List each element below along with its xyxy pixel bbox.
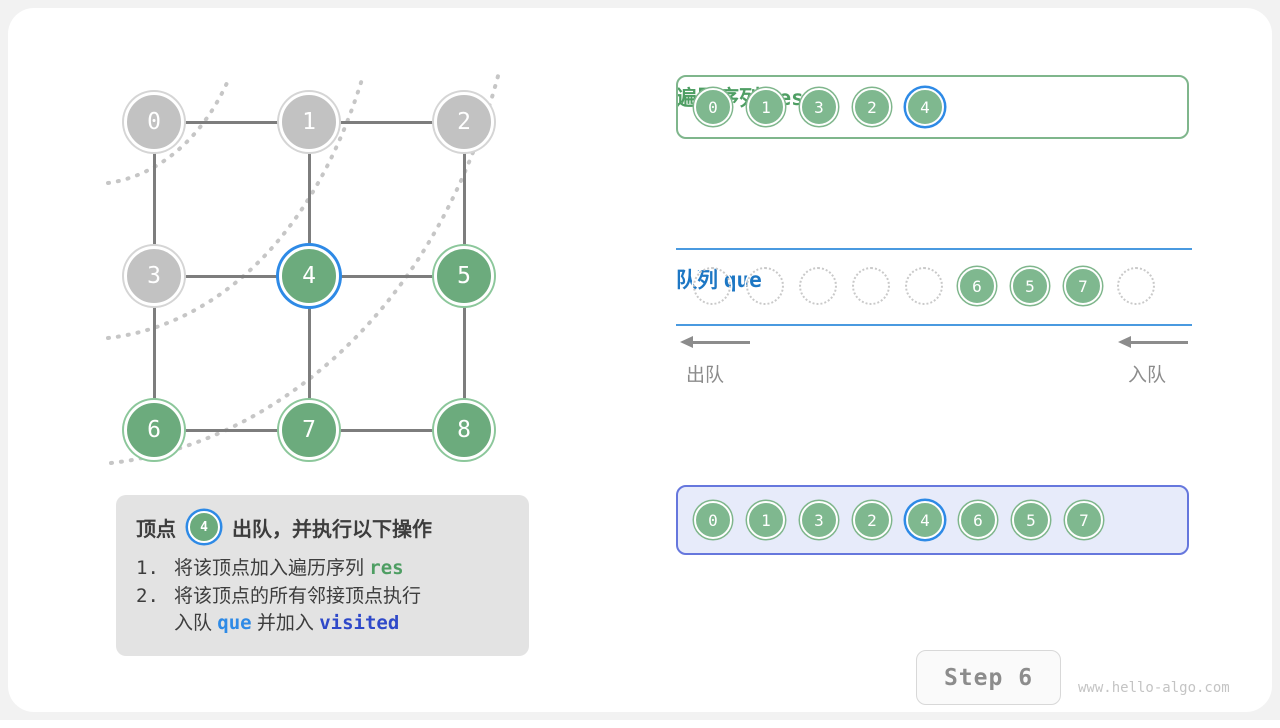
queue-slot-5[interactable]: 6 bbox=[958, 267, 996, 305]
visited-item-label: 5 bbox=[1026, 511, 1036, 530]
queue-top-rail bbox=[676, 248, 1192, 250]
queue-slot-7[interactable]: 7 bbox=[1064, 267, 1102, 305]
caption-step-1-text: 将该顶点加入遍历序列 bbox=[174, 558, 364, 579]
graph-node-label: 7 bbox=[302, 419, 316, 442]
caption-step-1: 1. 将该顶点加入遍历序列 res bbox=[136, 555, 509, 583]
enqueue-label: 入队 bbox=[1128, 360, 1166, 387]
graph-node-6[interactable]: 6 bbox=[124, 400, 184, 460]
caption-step-2-text-enqueue: 入队 bbox=[174, 613, 212, 634]
res-container: 01324 bbox=[676, 75, 1189, 139]
graph-node-label: 8 bbox=[457, 419, 471, 442]
caption-step-list: 1. 将该顶点加入遍历序列 res 2. 将该顶点的所有邻接顶点执行 入队 qu… bbox=[136, 555, 509, 638]
watermark: www.hello-algo.com bbox=[1078, 680, 1230, 696]
caption-step-1-code-res: res bbox=[369, 557, 403, 579]
caption-prefix: 顶点 bbox=[136, 513, 176, 542]
visited-item-label: 1 bbox=[761, 511, 771, 530]
graph-diagram: 012345678 bbox=[8, 8, 628, 488]
caption-step-2-code-que: que bbox=[217, 612, 251, 634]
visited-container: 01324657 bbox=[676, 485, 1189, 555]
caption-step-2-index: 2. bbox=[136, 583, 174, 638]
res-item-1[interactable]: 1 bbox=[747, 88, 785, 126]
res-item-3[interactable]: 2 bbox=[853, 88, 891, 126]
graph-node-2[interactable]: 2 bbox=[434, 92, 494, 152]
visited-item-label: 4 bbox=[920, 511, 930, 530]
res-item-4[interactable]: 4 bbox=[906, 88, 944, 126]
queue-slot-8[interactable] bbox=[1117, 267, 1155, 305]
visited-item-1[interactable]: 1 bbox=[747, 501, 785, 539]
queue-slot-6[interactable]: 5 bbox=[1011, 267, 1049, 305]
caption-node-chip: 4 bbox=[188, 511, 220, 543]
graph-node-label: 0 bbox=[147, 111, 161, 134]
visited-item-label: 3 bbox=[814, 511, 824, 530]
dequeue-label: 出队 bbox=[686, 360, 724, 387]
queue-slot-1[interactable] bbox=[746, 267, 784, 305]
visited-item-6[interactable]: 5 bbox=[1012, 501, 1050, 539]
res-item-2[interactable]: 3 bbox=[800, 88, 838, 126]
res-item-label: 0 bbox=[708, 98, 718, 117]
caption-suffix: 出队，并执行以下操作 bbox=[232, 513, 432, 542]
queue-slot-label: 7 bbox=[1078, 277, 1088, 296]
visited-item-5[interactable]: 6 bbox=[959, 501, 997, 539]
caption-node-chip-label: 4 bbox=[200, 520, 208, 535]
visited-item-2[interactable]: 3 bbox=[800, 501, 838, 539]
queue-slot-list: 657 bbox=[676, 254, 1192, 318]
graph-node-label: 1 bbox=[302, 111, 316, 134]
caption-step-2-code-visited: visited bbox=[319, 612, 399, 634]
graph-node-label: 5 bbox=[457, 265, 471, 288]
visited-item-3[interactable]: 2 bbox=[853, 501, 891, 539]
graph-node-8[interactable]: 8 bbox=[434, 400, 494, 460]
graph-node-4[interactable]: 4 bbox=[279, 246, 339, 306]
graph-node-label: 2 bbox=[457, 111, 471, 134]
dequeue-arrow-icon bbox=[680, 336, 750, 348]
graph-node-0[interactable]: 0 bbox=[124, 92, 184, 152]
queue-arrow-row: 出队 入队 bbox=[676, 336, 1192, 382]
caption-step-2: 2. 将该顶点的所有邻接顶点执行 入队 que 并加入 visited bbox=[136, 583, 509, 638]
queue-slot-2[interactable] bbox=[799, 267, 837, 305]
caption-step-2-text-add: 并加入 bbox=[257, 613, 314, 634]
res-item-label: 4 bbox=[920, 98, 930, 117]
page-background: 012345678 顶点 4 出队，并执行以下操作 1. 将该顶点加入遍历序列 … bbox=[0, 0, 1280, 720]
res-item-0[interactable]: 0 bbox=[694, 88, 732, 126]
caption-box: 顶点 4 出队，并执行以下操作 1. 将该顶点加入遍历序列 res 2. bbox=[116, 495, 529, 656]
res-item-label: 1 bbox=[761, 98, 771, 117]
queue-slot-0[interactable] bbox=[693, 267, 731, 305]
queue-slot-3[interactable] bbox=[852, 267, 890, 305]
caption-headline: 顶点 4 出队，并执行以下操作 bbox=[136, 511, 509, 543]
content-card: 012345678 顶点 4 出队，并执行以下操作 1. 将该顶点加入遍历序列 … bbox=[8, 8, 1272, 712]
res-item-label: 2 bbox=[867, 98, 877, 117]
graph-node-7[interactable]: 7 bbox=[279, 400, 339, 460]
visited-item-label: 0 bbox=[708, 511, 718, 530]
visited-item-0[interactable]: 0 bbox=[694, 501, 732, 539]
graph-node-3[interactable]: 3 bbox=[124, 246, 184, 306]
caption-step-2-text: 将该顶点的所有邻接顶点执行 bbox=[174, 586, 421, 607]
right-panel: 遍历序列 res 01324 队列 que 657 出队 bbox=[674, 8, 1234, 728]
visited-item-label: 7 bbox=[1079, 511, 1089, 530]
res-item-label: 3 bbox=[814, 98, 824, 117]
graph-node-5[interactable]: 5 bbox=[434, 246, 494, 306]
visited-item-7[interactable]: 7 bbox=[1065, 501, 1103, 539]
caption-step-1-index: 1. bbox=[136, 555, 174, 583]
caption-step-1-body: 将该顶点加入遍历序列 res bbox=[174, 555, 404, 583]
queue-slot-label: 6 bbox=[972, 277, 982, 296]
queue-bottom-rail bbox=[676, 324, 1192, 326]
graph-node-1[interactable]: 1 bbox=[279, 92, 339, 152]
queue-slot-label: 5 bbox=[1025, 277, 1035, 296]
visited-item-label: 2 bbox=[867, 511, 877, 530]
graph-node-label: 4 bbox=[302, 265, 316, 288]
visited-item-label: 6 bbox=[973, 511, 983, 530]
graph-node-label: 3 bbox=[147, 265, 161, 288]
graph-node-label: 6 bbox=[147, 419, 161, 442]
visited-item-4[interactable]: 4 bbox=[906, 501, 944, 539]
step-badge: Step 6 bbox=[916, 650, 1061, 705]
enqueue-arrow-icon bbox=[1118, 336, 1188, 348]
caption-step-2-body: 将该顶点的所有邻接顶点执行 入队 que 并加入 visited bbox=[174, 583, 421, 638]
queue-slot-4[interactable] bbox=[905, 267, 943, 305]
